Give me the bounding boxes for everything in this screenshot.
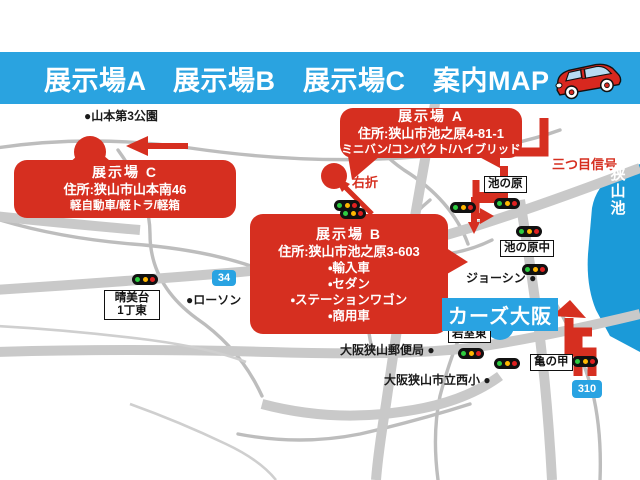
map-canvas: 展示場 A 住所:狭山市池之原4-81-1 ミニバン/コンパクト/ハイブリッド …	[0, 104, 640, 480]
callout-a-address: 住所:狭山市池之原4-81-1	[340, 126, 522, 143]
callout-showroom-c[interactable]: 展示場 C 住所:狭山市山本南46 軽自動車/軽トラ/軽箱	[14, 160, 236, 218]
label-harumidai: 晴美台1丁東	[104, 290, 160, 320]
callout-b-title: 展示場 B	[250, 226, 448, 244]
traffic-signal-iwamuro-east	[494, 358, 520, 369]
callout-b-item-2: ・セダン	[250, 276, 448, 292]
callout-c-address: 住所:狭山市山本南46	[14, 182, 236, 199]
label-yamamoto-park: ●山本第3公園	[84, 110, 158, 122]
callout-showroom-b[interactable]: 展示場 B 住所:狭山市池之原3-603 ・輸入車 ・セダン ・ステーションワゴ…	[250, 214, 448, 334]
traffic-signal-west	[450, 202, 476, 213]
traffic-signal-harumidai	[132, 274, 158, 285]
route-arrow-west	[126, 136, 188, 156]
label-ikenohara-naka: 池の原中	[500, 240, 554, 257]
callout-b-item-3: ・ステーションワゴン	[250, 292, 448, 308]
page-title: 展示場A 展示場B 展示場C 案内MAP	[44, 59, 550, 98]
traffic-signal-kamenoko	[572, 356, 598, 367]
callout-b-address: 住所:狭山市池之原3-603	[250, 244, 448, 261]
traffic-signal-iwamuro	[458, 348, 484, 359]
callout-a-title: 展示場 A	[340, 108, 522, 126]
callout-c-subtitle: 軽自動車/軽トラ/軽箱	[14, 199, 236, 214]
red-car-icon	[548, 60, 626, 100]
route-shield-310: 310	[572, 380, 602, 398]
callout-showroom-a[interactable]: 展示場 A 住所:狭山市池之原4-81-1 ミニバン/コンパクト/ハイブリッド	[340, 108, 522, 158]
traffic-signal-joshin	[522, 264, 548, 275]
location-dot-a	[321, 163, 347, 189]
header-bar: 展示場A 展示場B 展示場C 案内MAP	[0, 52, 640, 104]
traffic-signal-b-top	[340, 208, 366, 219]
label-post-office: 大阪狭山郵便局 ●	[340, 344, 435, 356]
callout-b-item-1: ・輸入車	[250, 260, 448, 276]
route-shield-34: 34	[212, 270, 236, 286]
brand-badge[interactable]: カーズ大阪	[442, 298, 558, 331]
callout-c-tail	[64, 144, 116, 168]
traffic-signal-ikenohara-naka	[516, 226, 542, 237]
label-lawson: ●ローソン	[186, 294, 241, 306]
label-nishi-elementary: 大阪狭山市立西小 ●	[384, 374, 491, 386]
label-turn-right: 右折	[352, 172, 378, 191]
callout-c-title: 展示場 C	[14, 164, 236, 182]
label-kamenoko: 亀の甲	[530, 354, 573, 371]
label-ikenohara: 池の原	[484, 176, 527, 193]
label-sayama-lake: 狭山池	[608, 166, 625, 217]
footer-notes: ※不在の場合はお電話ください「0078-6003-477171」 すぐにスタッフ…	[8, 466, 313, 480]
callout-b-item-4: ・商用車	[250, 308, 448, 324]
map-poster: 展示場A 展示場B 展示場C 案内MAP	[0, 0, 640, 480]
traffic-signal-ikenohara	[494, 198, 520, 209]
